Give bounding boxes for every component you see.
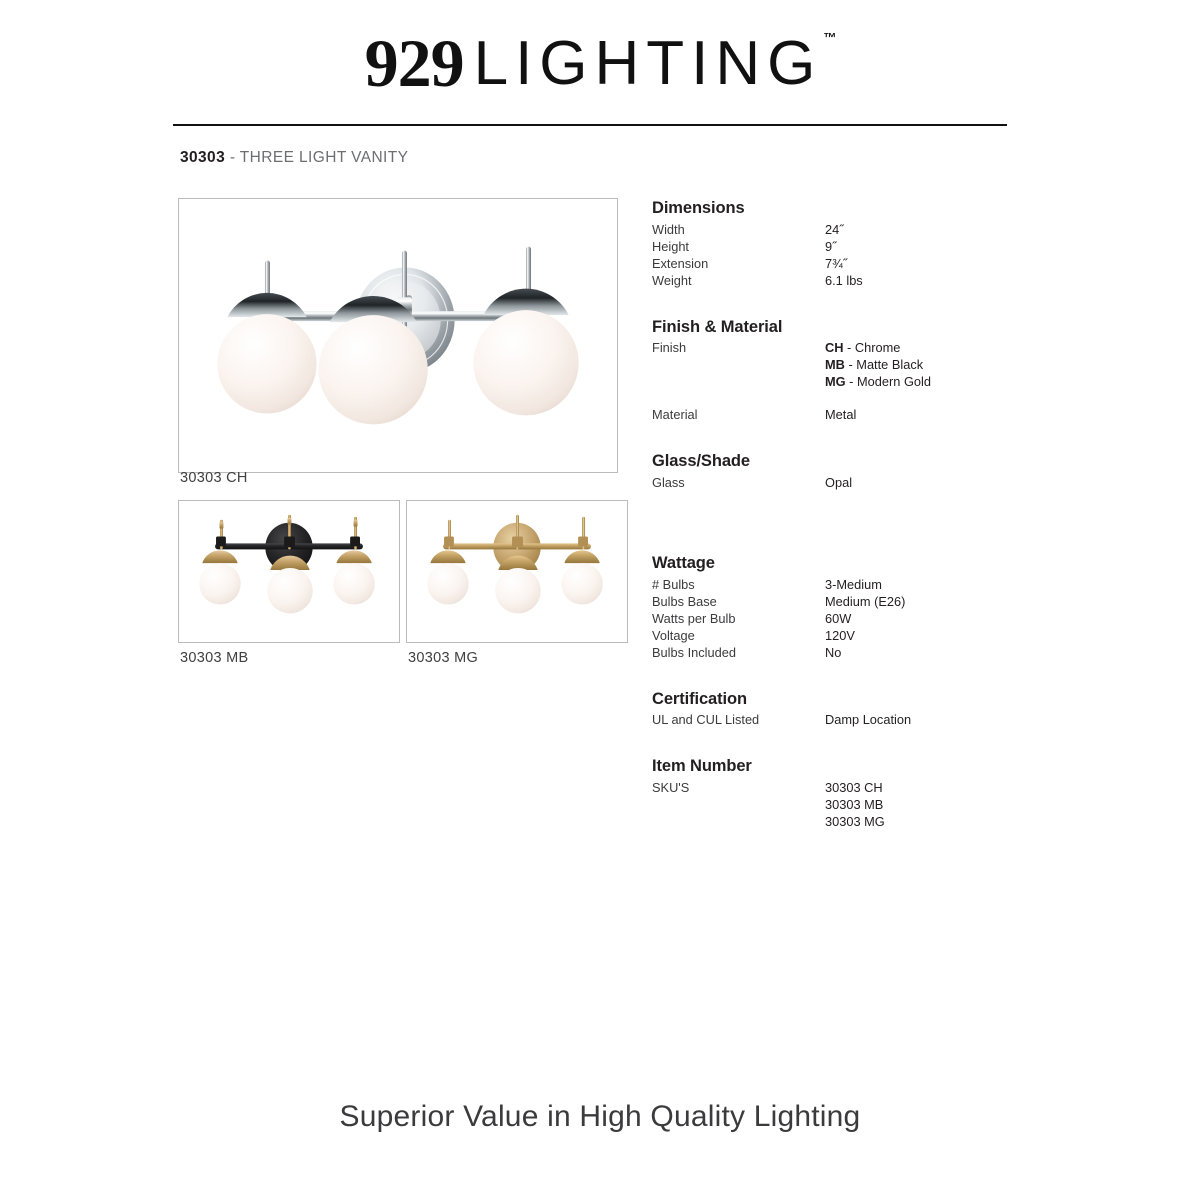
finish-name-mg: - Modern Gold <box>846 374 931 389</box>
specifications-panel: Dimensions Width 24˝ Height 9˝ Extension… <box>652 198 1052 830</box>
section-wattage: Wattage # Bulbs 3-Medium Bulbs Base Medi… <box>652 553 1052 661</box>
spec-row-sku-1: SKU'S 30303 CH <box>652 779 1052 796</box>
spec-row-num-bulbs: # Bulbs 3-Medium <box>652 576 1052 593</box>
product-image-chrome <box>178 198 618 473</box>
caption-matte-black: 30303 MB <box>180 650 249 666</box>
spacer <box>652 289 1052 317</box>
section-certification: Certification UL and CUL Listed Damp Loc… <box>652 689 1052 729</box>
caption-chrome: 30303 CH <box>180 470 248 486</box>
label-height: Height <box>652 238 689 255</box>
page-title: 30303 - THREE LIGHT VANITY <box>180 149 408 167</box>
footer-tagline: Superior Value in High Quality Lighting <box>0 1100 1200 1134</box>
spec-row-glass: Glass Opal <box>652 474 1052 491</box>
label-width: Width <box>652 221 685 238</box>
spec-row-bulbs-included: Bulbs Included No <box>652 644 1052 661</box>
label-ul-cul-listed: UL and CUL Listed <box>652 711 759 728</box>
section-heading-certification: Certification <box>652 689 1052 710</box>
value-glass: Opal <box>825 474 852 491</box>
finish-code-mg: MG <box>825 374 846 389</box>
spec-row-finish-mb: MB - Matte Black <box>652 356 1052 373</box>
spec-row-watts-per-bulb: Watts per Bulb 60W <box>652 610 1052 627</box>
value-material: Metal <box>825 406 856 423</box>
spec-row-sku-2: 30303 MB <box>652 796 1052 813</box>
spec-row-finish-mg: MG - Modern Gold <box>652 373 1052 390</box>
label-glass: Glass <box>652 474 685 491</box>
finish-code-mb: MB <box>825 357 845 372</box>
value-finish-mg: MG - Modern Gold <box>825 373 931 390</box>
trademark-symbol: ™ <box>823 30 836 45</box>
value-sku-ch: 30303 CH <box>825 779 883 796</box>
section-heading-glass-shade: Glass/Shade <box>652 451 1052 472</box>
spec-row-certification: UL and CUL Listed Damp Location <box>652 711 1052 728</box>
logo-wordmark: LIGHTING <box>474 29 823 98</box>
label-num-bulbs: # Bulbs <box>652 576 695 593</box>
value-damp-location: Damp Location <box>825 711 911 728</box>
finish-name-mb: - Matte Black <box>845 357 923 372</box>
value-bulbs-included: No <box>825 644 841 661</box>
finish-name-ch: - Chrome <box>843 340 900 355</box>
fixture-illustration-modern-gold <box>407 501 627 642</box>
fixture-illustration-matte-black <box>179 501 399 642</box>
matte-black-vanity-svg <box>179 501 399 642</box>
value-finish-mb: MB - Matte Black <box>825 356 923 373</box>
label-weight: Weight <box>652 272 692 289</box>
spec-row-voltage: Voltage 120V <box>652 627 1052 644</box>
label-skus: SKU'S <box>652 779 689 796</box>
label-bulbs-included: Bulbs Included <box>652 644 736 661</box>
section-glass-shade: Glass/Shade Glass Opal <box>652 451 1052 491</box>
product-name: - THREE LIGHT VANITY <box>225 149 408 166</box>
chrome-vanity-svg <box>179 199 617 472</box>
section-item-number: Item Number SKU'S 30303 CH 30303 MB 3030… <box>652 756 1052 830</box>
spacer <box>652 423 1052 451</box>
product-image-modern-gold <box>406 500 628 643</box>
spacer <box>652 728 1052 756</box>
spec-row-height: Height 9˝ <box>652 238 1052 255</box>
value-bulbs-base: Medium (E26) <box>825 593 905 610</box>
caption-modern-gold: 30303 MG <box>408 650 478 666</box>
label-finish: Finish <box>652 339 686 356</box>
value-sku-mb: 30303 MB <box>825 796 883 813</box>
spacer <box>652 390 1052 406</box>
value-extension: 7¾˝ <box>825 255 847 272</box>
spacer <box>652 661 1052 689</box>
finish-code-ch: CH <box>825 340 843 355</box>
product-image-matte-black <box>178 500 400 643</box>
value-weight: 6.1 lbs <box>825 272 863 289</box>
section-heading-dimensions: Dimensions <box>652 198 1052 219</box>
spec-row-sku-3: 30303 MG <box>652 813 1052 830</box>
label-voltage: Voltage <box>652 627 695 644</box>
brand-logo: 929LIGHTING™ <box>0 24 1200 103</box>
section-heading-wattage: Wattage <box>652 553 1052 574</box>
section-finish-material: Finish & Material Finish CH - Chrome MB … <box>652 317 1052 424</box>
product-sku: 30303 <box>180 149 225 166</box>
header-divider <box>173 124 1007 126</box>
spacer <box>652 525 1052 553</box>
value-num-bulbs: 3-Medium <box>825 576 882 593</box>
label-watts-per-bulb: Watts per Bulb <box>652 610 735 627</box>
value-sku-mg: 30303 MG <box>825 813 885 830</box>
value-finish-ch: CH - Chrome <box>825 339 900 356</box>
spec-row-extension: Extension 7¾˝ <box>652 255 1052 272</box>
section-heading-finish-material: Finish & Material <box>652 317 1052 338</box>
value-watts-per-bulb: 60W <box>825 610 851 627</box>
spec-sheet-page: 929LIGHTING™ 30303 - THREE LIGHT VANITY <box>0 0 1200 1200</box>
label-bulbs-base: Bulbs Base <box>652 593 717 610</box>
section-dimensions: Dimensions Width 24˝ Height 9˝ Extension… <box>652 198 1052 289</box>
label-extension: Extension <box>652 255 708 272</box>
value-width: 24˝ <box>825 221 844 238</box>
spec-row-material: Material Metal <box>652 406 1052 423</box>
modern-gold-vanity-svg <box>407 501 627 642</box>
logo-numeral: 929 <box>365 25 464 101</box>
spec-row-weight: Weight 6.1 lbs <box>652 272 1052 289</box>
spec-row-bulbs-base: Bulbs Base Medium (E26) <box>652 593 1052 610</box>
value-height: 9˝ <box>825 238 836 255</box>
section-heading-item-number: Item Number <box>652 756 1052 777</box>
spacer <box>652 491 1052 525</box>
fixture-illustration-chrome <box>179 199 617 472</box>
label-material: Material <box>652 406 698 423</box>
spec-row-width: Width 24˝ <box>652 221 1052 238</box>
value-voltage: 120V <box>825 627 855 644</box>
spec-row-finish-ch: Finish CH - Chrome <box>652 339 1052 356</box>
